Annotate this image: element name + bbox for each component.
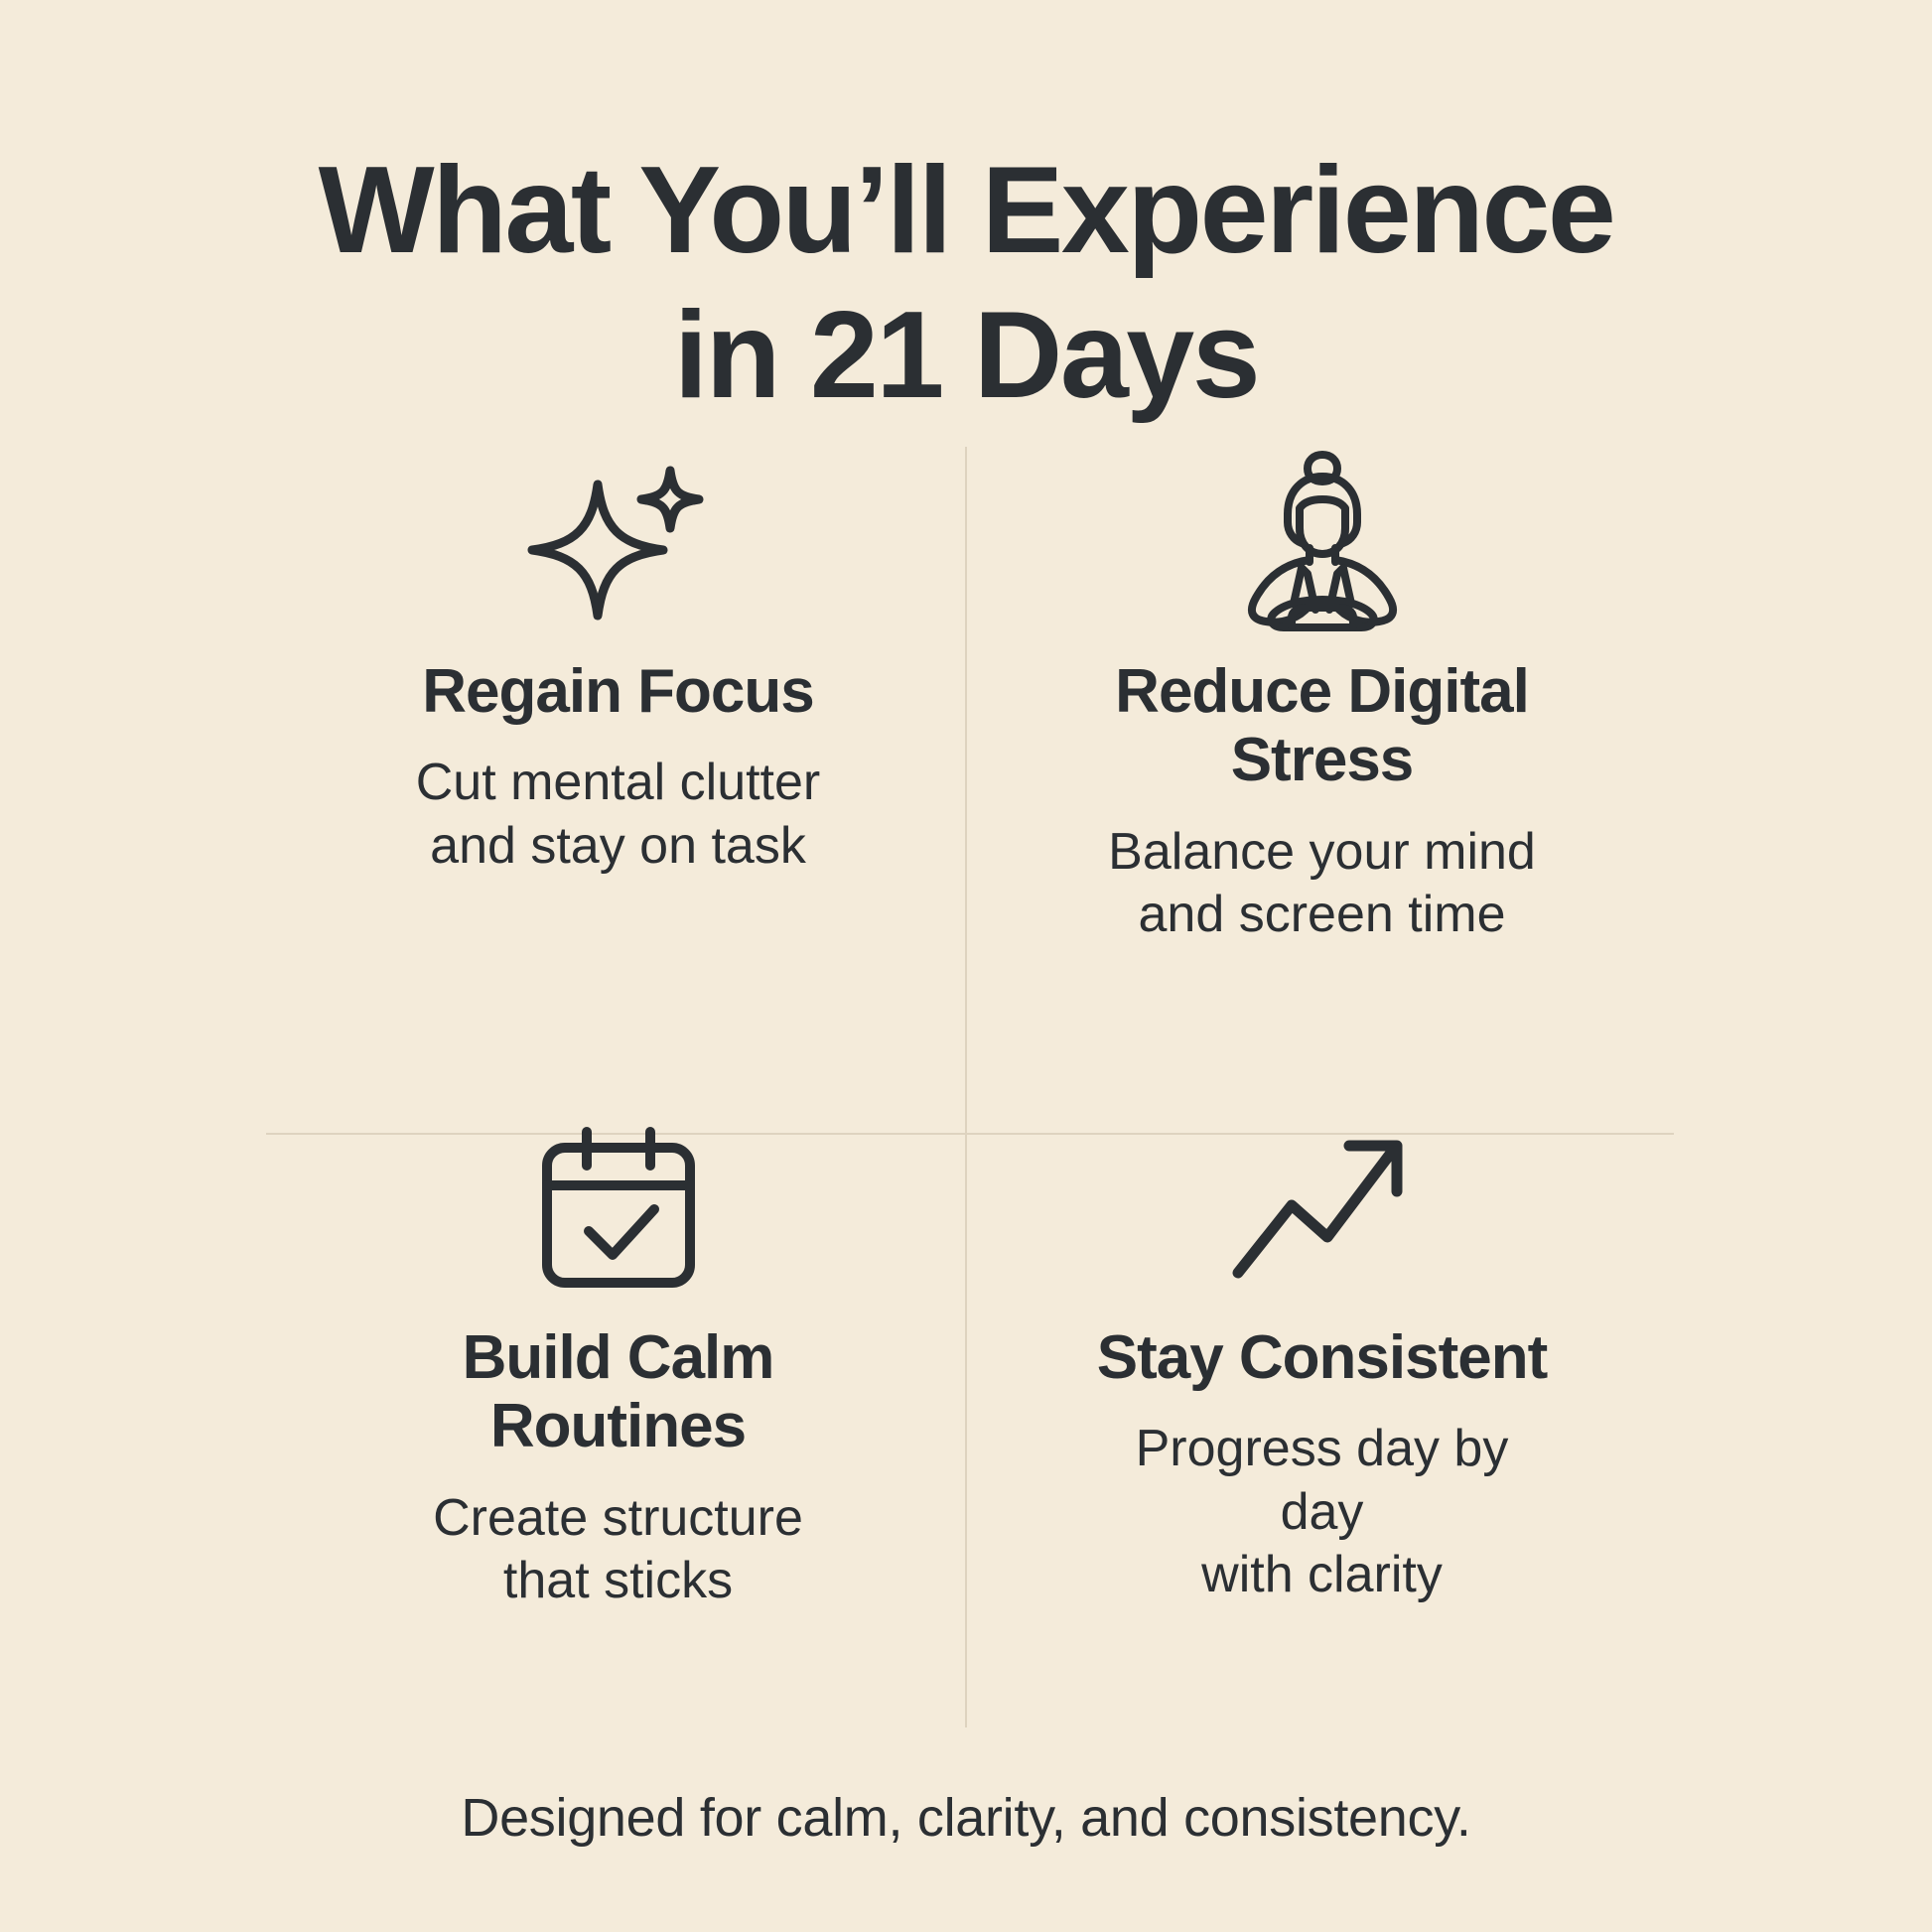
benefit-desc-line-1: Progress day by day — [1136, 1420, 1509, 1540]
benefit-card-title: Stay Consistent — [1097, 1323, 1548, 1392]
benefit-card-regain-focus: Regain Focus Cut mental clutter and stay… — [266, 429, 970, 1079]
benefit-title-line-2: Routines — [490, 1392, 746, 1460]
benefit-desc-line-1: Create structure — [433, 1489, 803, 1547]
sparkle-icon — [524, 447, 713, 635]
benefit-card-description: Create structure that sticks — [433, 1487, 803, 1613]
benefit-card-description: Balance your mind and screen time — [1108, 821, 1536, 947]
benefit-desc-line-2: and stay on task — [430, 817, 806, 875]
benefit-desc-line-1: Cut mental clutter — [416, 754, 821, 811]
poster-canvas: What You’ll Experience in 21 Days Regain… — [0, 0, 1932, 1932]
benefit-desc-line-2: with clarity — [1201, 1546, 1443, 1603]
benefit-card-description: Progress day by day with clarity — [1089, 1418, 1556, 1606]
benefit-card-title: Reduce Digital Stress — [1115, 657, 1529, 795]
benefit-title-line-1: Build Calm — [463, 1323, 774, 1392]
page-title-line-2: in 21 Days — [0, 294, 1932, 417]
meditation-lotus-icon — [1228, 447, 1417, 635]
benefit-desc-line-2: that sticks — [503, 1552, 733, 1609]
page-title-line-1: What You’ll Experience — [0, 149, 1932, 272]
benefit-card-title: Build Calm Routines — [463, 1323, 774, 1461]
calendar-check-icon — [524, 1113, 713, 1302]
benefit-title-line-1: Reduce Digital — [1115, 657, 1529, 726]
benefit-card-reduce-digital-stress: Reduce Digital Stress Balance your mind … — [970, 429, 1674, 1079]
page-title: What You’ll Experience in 21 Days — [0, 149, 1932, 417]
benefit-desc-line-2: and screen time — [1139, 886, 1506, 943]
benefit-title-line-2: Stress — [1231, 726, 1414, 794]
trending-up-arrow-icon — [1228, 1113, 1417, 1302]
footer-tagline: Designed for calm, clarity, and consiste… — [0, 1787, 1932, 1849]
benefits-grid: Regain Focus Cut mental clutter and stay… — [266, 429, 1674, 1729]
benefit-desc-line-1: Balance your mind — [1108, 823, 1536, 881]
benefit-card-build-calm-routines: Build Calm Routines Create structure tha… — [266, 1079, 970, 1729]
benefit-card-stay-consistent: Stay Consistent Progress day by day with… — [970, 1079, 1674, 1729]
benefit-card-description: Cut mental clutter and stay on task — [416, 752, 821, 878]
benefit-card-title: Regain Focus — [422, 657, 814, 726]
